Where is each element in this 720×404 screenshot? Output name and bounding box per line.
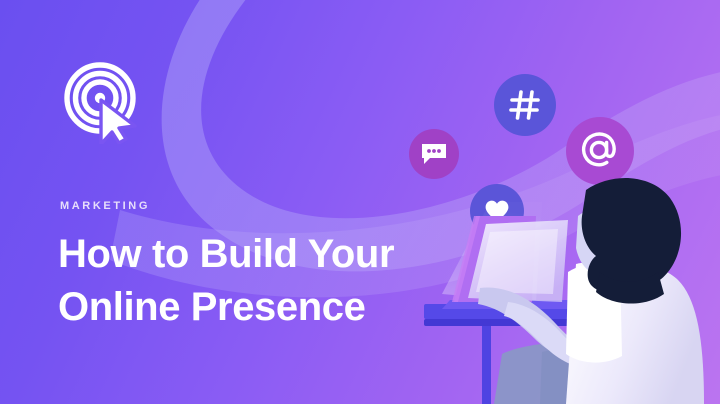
- click-target-icon: [60, 58, 148, 144]
- at-sign-bubble[interactable]: [566, 117, 634, 185]
- page-title: How to Build Your Online Presence: [58, 228, 458, 334]
- chat-icon: [420, 142, 448, 166]
- desk-leg: [482, 326, 491, 404]
- hashtag-icon: [508, 88, 542, 122]
- woman-at-laptop-illustration: [416, 176, 720, 404]
- category-label: MARKETING: [60, 200, 150, 212]
- chat-bubble[interactable]: [409, 129, 459, 179]
- illustration-svg: [416, 176, 720, 404]
- brand-logo[interactable]: [60, 58, 148, 144]
- hashtag-bubble[interactable]: [494, 74, 556, 136]
- at-sign-icon: [578, 129, 622, 173]
- marketing-banner: MARKETING How to Build Your Online Prese…: [0, 0, 720, 404]
- hair: [582, 178, 681, 291]
- headline-line-1: How to Build Your: [58, 228, 458, 281]
- headline-line-2: Online Presence: [58, 281, 458, 334]
